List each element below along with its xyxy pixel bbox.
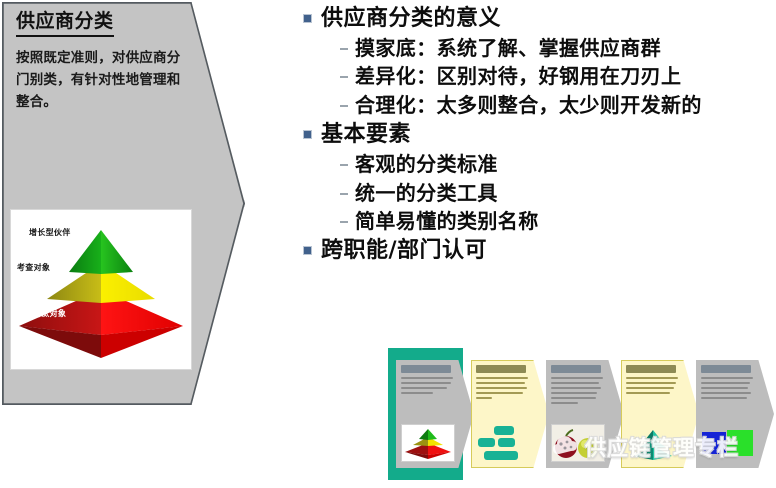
slide-canvas: 供应商分类 按照既定准则，对供应商分门别类，有针对性地管理和整合。 [0, 0, 776, 488]
bullet-level2-label: 简单易懂的类别名称 [355, 208, 539, 235]
dash-bullet-icon [340, 48, 348, 50]
step-title-bar [401, 365, 451, 373]
step-title-bar [626, 365, 676, 373]
step-text-lines [701, 377, 753, 402]
bullet-item-level2: 摸家底：系统了解、掌握供应商群 [340, 35, 773, 62]
step-title-bar [476, 365, 526, 373]
cloud-logo-icon [551, 432, 581, 462]
dash-bullet-icon [340, 76, 348, 78]
step-thumbnail-pyramid [401, 424, 455, 462]
bullet-item-level2: 客观的分类标准 [340, 151, 773, 178]
bullet-level2-label: 客观的分类标准 [355, 151, 498, 178]
bullet-level1-label: 供应商分类的意义 [321, 4, 501, 33]
step-text-lines [476, 377, 528, 402]
step-thumbnail-org-chart [476, 424, 530, 462]
step-title-bar [551, 365, 601, 373]
bullet-item-level1: 跨职能/部门认可 [303, 236, 773, 265]
dash-bullet-icon [340, 164, 348, 166]
dash-bullet-icon [340, 193, 348, 195]
dash-bullet-icon [340, 105, 348, 107]
square-bullet-icon [303, 130, 312, 139]
bullet-item-level1: 基本要素 [303, 120, 773, 149]
bullet-level2-label: 合理化：太多则整合，太少则开发新的 [355, 92, 702, 119]
watermark: 供应链管理专栏 [551, 432, 739, 462]
step-title-bar [701, 365, 751, 373]
bullet-level2-label: 差异化：区别对待，好钢用在刀刃上 [355, 63, 681, 90]
bullet-level2-label: 摸家底：系统了解、掌握供应商群 [355, 35, 661, 62]
bullet-level2-label: 统一的分类工具 [355, 180, 498, 207]
bullet-item-level2: 简单易懂的类别名称 [340, 208, 773, 235]
dash-bullet-icon [340, 221, 348, 223]
pyramid-image-box: 增长型伙伴 考查对象 淘汰对象 [10, 209, 192, 370]
bullet-item-level2: 统一的分类工具 [340, 180, 773, 207]
mini-orgchart-icon [476, 424, 530, 462]
step-text-lines [626, 377, 678, 397]
bullet-list: 供应商分类的意义 摸家底：系统了解、掌握供应商群 差异化：区别对待，好钢用在刀刃… [303, 4, 773, 267]
pyramid-label-bottom: 淘汰对象 [33, 308, 66, 319]
pyramid-label-middle: 考查对象 [17, 262, 50, 273]
bullet-item-level1: 供应商分类的意义 [303, 4, 773, 33]
process-step-2[interactable] [471, 360, 549, 468]
watermark-text: 供应链管理专栏 [585, 432, 739, 462]
step-text-lines [551, 377, 603, 407]
supplier-classification-panel: 供应商分类 按照既定准则，对供应商分门别类，有针对性地管理和整合。 [2, 2, 245, 405]
square-bullet-icon [303, 246, 312, 255]
square-bullet-icon [303, 14, 312, 23]
bullet-level1-label: 跨职能/部门认可 [321, 236, 487, 265]
bullet-item-level2: 差异化：区别对待，好钢用在刀刃上 [340, 63, 773, 90]
process-step-1[interactable] [396, 360, 474, 468]
bullet-item-level2: 合理化：太多则整合，太少则开发新的 [340, 92, 773, 119]
mini-pyramid-icon [402, 425, 454, 461]
bullet-level1-label: 基本要素 [321, 120, 411, 149]
step-text-lines [401, 377, 453, 397]
pyramid-label-top: 增长型伙伴 [29, 227, 71, 238]
panel-body-text: 按照既定准则，对供应商分门别类，有针对性地管理和整合。 [16, 48, 186, 114]
panel-title: 供应商分类 [16, 10, 114, 37]
